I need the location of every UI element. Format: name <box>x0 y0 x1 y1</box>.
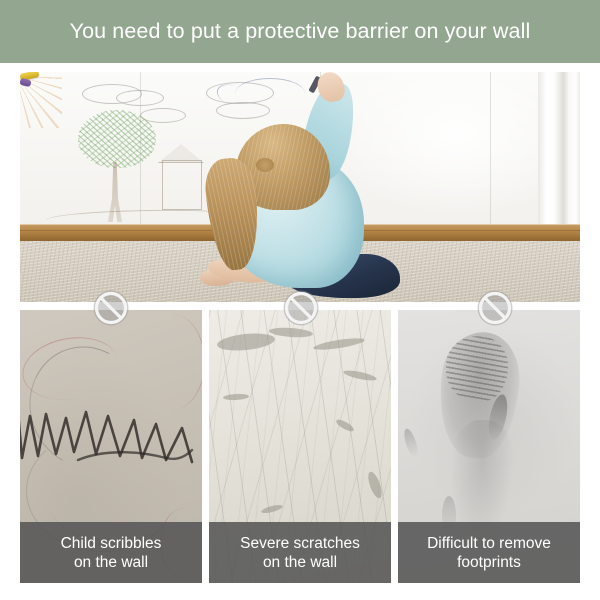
wall-seam <box>490 72 491 226</box>
panel-caption-bar: Severe scratches on the wall <box>209 522 391 583</box>
problem-panels: Child scribbles on the wall Severe scrat… <box>20 310 580 583</box>
panel-caption-text: Child scribbles on the wall <box>57 534 166 572</box>
wall-trim-column <box>538 72 568 228</box>
wall-corner-trim <box>568 72 580 230</box>
no-entry-icon <box>92 289 130 327</box>
panel-child-scribbles: Child scribbles on the wall <box>20 310 202 583</box>
panel-caption-bar: Difficult to remove footprints <box>398 522 580 583</box>
girl-hair-tie <box>256 158 274 172</box>
panel-caption-bar: Child scribbles on the wall <box>20 522 202 583</box>
drawing-house <box>162 160 202 210</box>
scribble-line <box>140 314 202 410</box>
panel-footprints: Difficult to remove footprints <box>398 310 580 583</box>
panel-caption-text: Severe scratches on the wall <box>236 534 364 572</box>
no-entry-icon <box>282 289 320 327</box>
drawing-tree-canopy <box>78 110 156 168</box>
panel-caption-text: Difficult to remove footprints <box>423 534 555 572</box>
header-banner: You need to put a protective barrier on … <box>0 0 600 63</box>
page-title: You need to put a protective barrier on … <box>70 19 531 44</box>
panel-severe-scratches: Severe scratches on the wall <box>209 310 391 583</box>
crayon-zigzag <box>20 406 202 468</box>
hero-image <box>20 72 580 302</box>
no-entry-icon <box>476 289 514 327</box>
drawing-cloud <box>116 90 164 106</box>
shoe-tread-pattern <box>444 334 510 402</box>
